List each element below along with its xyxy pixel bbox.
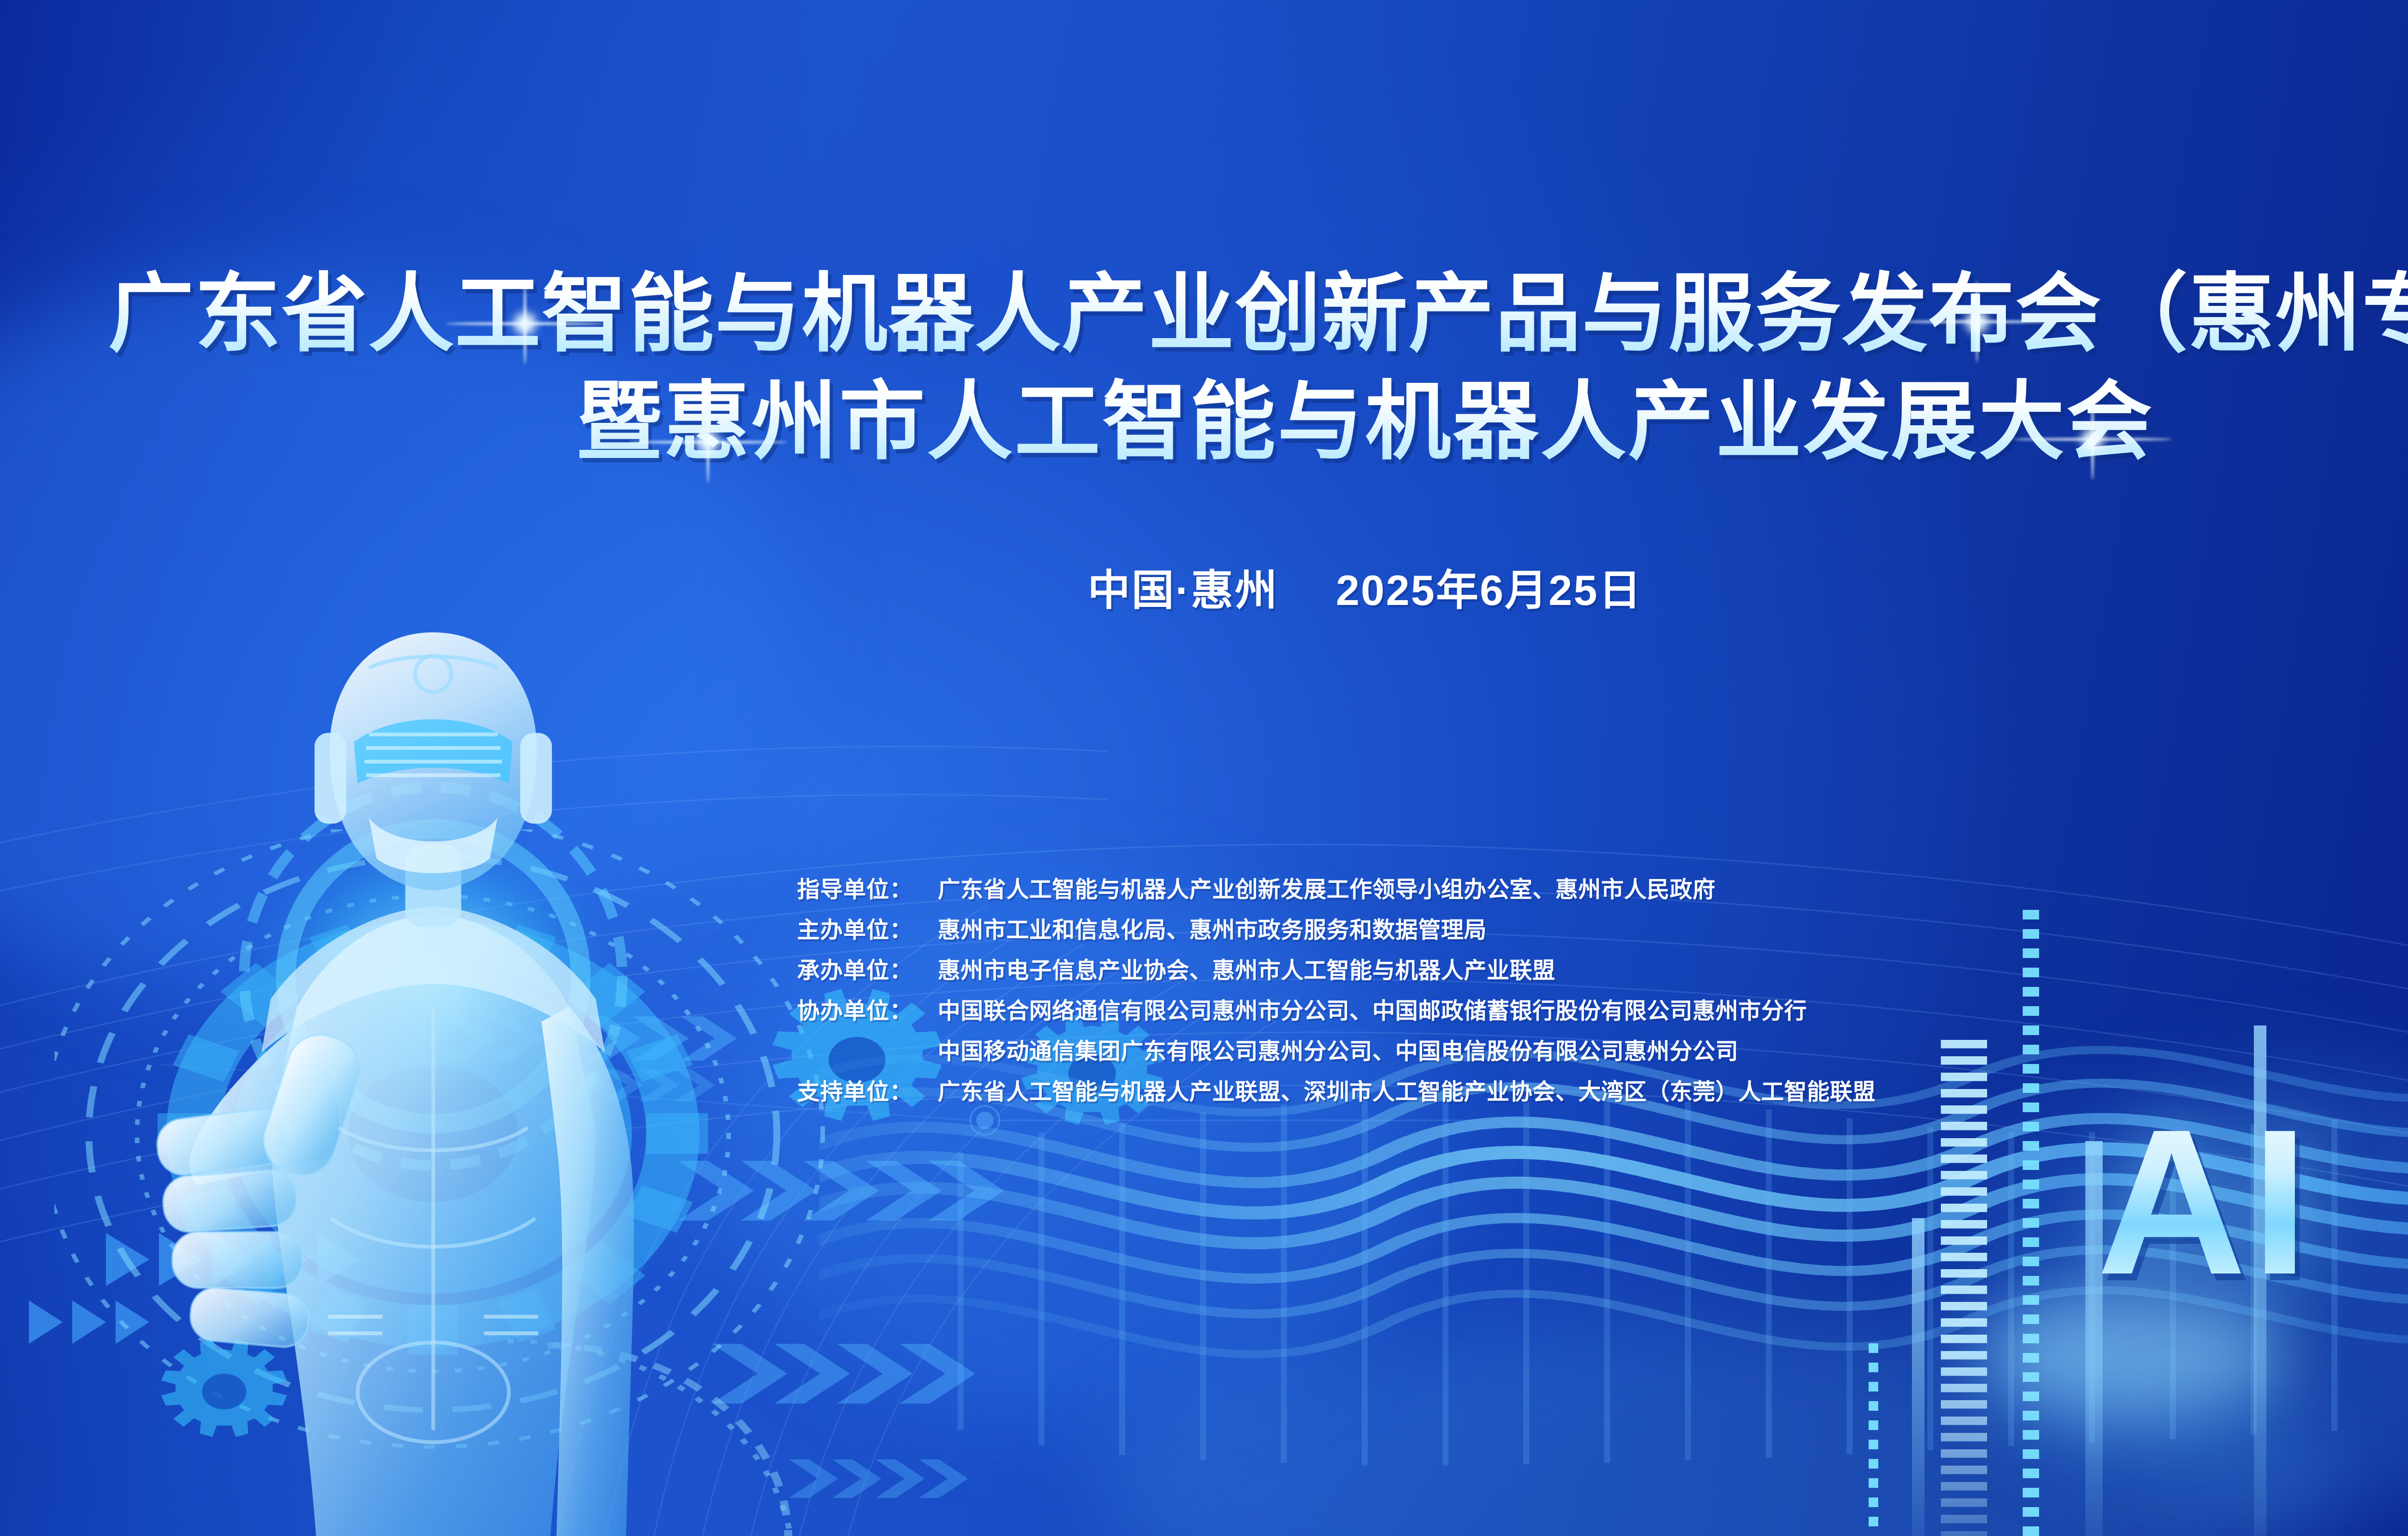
organizer-label: 支持单位：: [797, 1080, 938, 1103]
organizer-row: 主办单位：惠州市工业和信息化局、惠州市政务服务和数据管理局: [797, 919, 1876, 941]
organizer-label: 协办单位：: [797, 999, 938, 1022]
organizer-row: 协办单位：中国移动通信集团广东有限公司惠州分公司、中国电信股份有限公司惠州分公司: [797, 1040, 1876, 1063]
ai-logo: AI: [2097, 1114, 2314, 1292]
organizer-list: 指导单位：广东省人工智能与机器人产业创新发展工作领导小组办公室、惠州市人民政府主…: [797, 878, 1876, 1103]
organizer-value: 惠州市工业和信息化局、惠州市政务服务和数据管理局: [938, 919, 1487, 941]
organizer-value: 惠州市电子信息产业协会、惠州市人工智能与机器人产业联盟: [938, 959, 1556, 982]
date-text: 2025年6月25日: [1336, 566, 1643, 614]
eq-bar: [1869, 1343, 1878, 1536]
conference-banner: AI 广东省人工智能与机器人产业创新产品与服务发布会（惠州专场） 暨惠州市人工智…: [0, 0, 2408, 1536]
organizer-row: 指导单位：广东省人工智能与机器人产业创新发展工作领导小组办公室、惠州市人民政府: [797, 878, 1876, 901]
organizer-label: 指导单位：: [797, 878, 938, 901]
eq-bar: [1941, 1040, 1987, 1536]
organizer-row: 支持单位：广东省人工智能与机器人产业联盟、深圳市人工智能产业协会、大湾区（东莞）…: [797, 1080, 1876, 1103]
organizer-value: 广东省人工智能与机器人产业联盟、深圳市人工智能产业协会、大湾区（东莞）人工智能联…: [938, 1080, 1876, 1103]
title-block: 广东省人工智能与机器人产业创新产品与服务发布会（惠州专场） 暨惠州市人工智能与机…: [0, 260, 2408, 476]
page-title-line-2: 暨惠州市人工智能与机器人产业发展大会: [0, 368, 2408, 476]
eq-bar: [1912, 1218, 1924, 1536]
eq-bar: [2023, 910, 2039, 1536]
organizer-value: 中国移动通信集团广东有限公司惠州分公司、中国电信股份有限公司惠州分公司: [938, 1040, 1739, 1063]
subtitle-line: 中国·惠州 2025年6月25日: [0, 556, 2408, 617]
organizer-row: 协办单位：中国联合网络通信有限公司惠州市分公司、中国邮政储蓄银行股份有限公司惠州…: [797, 999, 1876, 1022]
page-title-line-1: 广东省人工智能与机器人产业创新产品与服务发布会（惠州专场）: [0, 260, 2408, 368]
organizer-row: 承办单位：惠州市电子信息产业协会、惠州市人工智能与机器人产业联盟: [797, 959, 1876, 982]
organizer-label: 主办单位：: [797, 919, 938, 941]
location-text: 中国·惠州: [1088, 566, 1279, 614]
organizer-label: 承办单位：: [797, 959, 938, 982]
organizer-value: 广东省人工智能与机器人产业创新发展工作领导小组办公室、惠州市人民政府: [938, 878, 1715, 901]
organizer-value: 中国联合网络通信有限公司惠州市分公司、中国邮政储蓄银行股份有限公司惠州市分行: [938, 999, 1807, 1022]
